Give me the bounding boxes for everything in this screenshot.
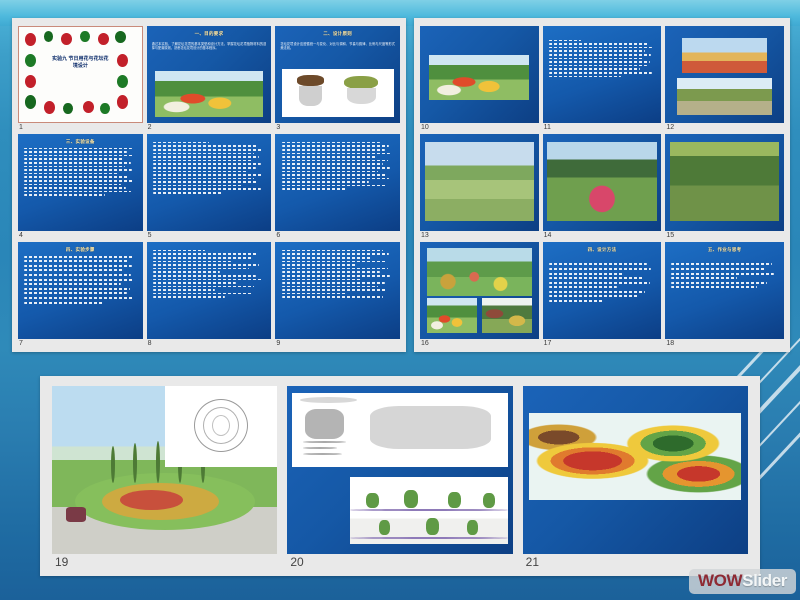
slide-7-title: 四、实验步骤	[18, 247, 143, 253]
slide-number: 14	[543, 231, 662, 240]
wowslider-watermark: WOWSlider	[689, 569, 796, 594]
watermark-slider-text: Slider	[742, 571, 787, 590]
slide-13-canvas[interactable]	[420, 134, 539, 231]
slide-18-text-block	[671, 263, 778, 333]
slide-number: 3	[275, 123, 400, 132]
slide-thumbnail-6[interactable]: 6	[275, 134, 400, 240]
slide-20-sketch-plan	[292, 393, 508, 467]
slide-18-canvas[interactable]: 五、作业与思考	[665, 242, 784, 339]
slide-3-photo	[282, 69, 394, 118]
slide-thumbnail-1[interactable]: 实验九 节日用花与花坛花境设计 1	[18, 26, 143, 132]
slide-number: 15	[665, 231, 784, 240]
thumbnail-grid-right: 10 11 12	[414, 18, 790, 352]
slide-thumbnail-12[interactable]: 12	[665, 26, 784, 132]
slide-6-canvas[interactable]	[275, 134, 400, 231]
slide-6-text-block	[282, 142, 394, 225]
slide-gallery-stage: 实验九 节日用花与花坛花境设计 1 一、目的要求 通过本实验，了解花坛花境的基本…	[0, 0, 800, 600]
slide-number: 18	[665, 339, 784, 348]
slide-thumbnail-7[interactable]: 四、实验步骤 7	[18, 242, 143, 348]
slide-number: 4	[18, 231, 143, 240]
slide-thumbnail-8[interactable]: 8	[147, 242, 272, 348]
thumbnail-panel-bottom: 19	[40, 376, 760, 576]
slide-thumbnail-19[interactable]: 19	[52, 386, 277, 570]
thumbnail-grid-left: 实验九 节日用花与花坛花境设计 1 一、目的要求 通过本实验，了解花坛花境的基本…	[12, 18, 406, 352]
slide-number: 2	[147, 123, 272, 132]
slide-17-title: 四、设计方法	[543, 247, 662, 253]
slide-12-photo-top	[682, 38, 767, 73]
slide-thumbnail-14[interactable]: 14	[543, 134, 662, 240]
slide-thumbnail-13[interactable]: 13	[420, 134, 539, 240]
slide-20-canvas[interactable]	[287, 386, 512, 554]
slide-2-title: 一、目的要求	[147, 31, 272, 37]
slide-8-canvas[interactable]	[147, 242, 272, 339]
slide-14-photo	[547, 142, 656, 222]
thumbnail-grid-bottom: 19	[40, 376, 760, 576]
slide-number: 10	[420, 123, 539, 132]
slide-2-photo	[155, 71, 262, 118]
watermark-wow-text: WOW	[698, 571, 742, 590]
thumbnail-panel-left: 实验九 节日用花与花坛花境设计 1 一、目的要求 通过本实验，了解花坛花境的基本…	[12, 18, 406, 352]
slide-thumbnail-9[interactable]: 9	[275, 242, 400, 348]
slide-2-canvas[interactable]: 一、目的要求 通过本实验，了解花坛花境的基本类型和设计方法，掌握花坛花境植物材料…	[147, 26, 272, 123]
slide-thumbnail-4[interactable]: 三、实验设备 4	[18, 134, 143, 240]
slide-16-photo-bottom-left	[427, 298, 477, 333]
slide-21-canvas[interactable]	[523, 386, 748, 554]
slide-number: 21	[523, 554, 748, 570]
slide-9-canvas[interactable]	[275, 242, 400, 339]
slide-thumbnail-21[interactable]: 21	[523, 386, 748, 570]
slide-number: 13	[420, 231, 539, 240]
thumbnail-panel-right: 10 11 12	[414, 18, 790, 352]
slide-3-body: 花坛花境设计应遵循统一与变化、对比与调和、节奏与韵律、比例与尺度等形式美法则。	[280, 42, 395, 54]
slide-19-canvas[interactable]	[52, 386, 277, 554]
slide-20-section-drawing	[350, 477, 508, 544]
slide-thumbnail-18[interactable]: 五、作业与思考 18	[665, 242, 784, 348]
slide-4-text-block	[24, 148, 136, 226]
slide-12-photo-bottom	[677, 78, 772, 115]
slide-17-canvas[interactable]: 四、设计方法	[543, 242, 662, 339]
slide-thumbnail-11[interactable]: 11	[543, 26, 662, 132]
slide-1-canvas[interactable]: 实验九 节日用花与花坛花境设计	[18, 26, 143, 123]
slide-7-text-block	[24, 256, 136, 334]
slide-14-canvas[interactable]	[543, 134, 662, 231]
slide-thumbnail-17[interactable]: 四、设计方法 17	[543, 242, 662, 348]
slide-1-title: 实验九 节日用花与花坛花境设计	[51, 56, 110, 70]
slide-12-canvas[interactable]	[665, 26, 784, 123]
slide-9-text-block	[282, 250, 394, 333]
slide-16-photo-top	[427, 248, 531, 297]
slide-5-canvas[interactable]	[147, 134, 272, 231]
slide-10-photo	[429, 55, 529, 100]
slide-number: 6	[275, 231, 400, 240]
slide-8-text-block	[153, 250, 265, 333]
slide-number: 16	[420, 339, 539, 348]
slide-number: 9	[275, 339, 400, 348]
slide-3-title: 二、设计原则	[275, 31, 400, 37]
slide-15-photo	[670, 142, 779, 222]
slide-3-canvas[interactable]: 二、设计原则 花坛花境设计应遵循统一与变化、对比与调和、节奏与韵律、比例与尺度等…	[275, 26, 400, 123]
slide-13-photo	[425, 142, 534, 222]
slide-thumbnail-2[interactable]: 一、目的要求 通过本实验，了解花坛花境的基本类型和设计方法，掌握花坛花境植物材料…	[147, 26, 272, 132]
slide-number: 7	[18, 339, 143, 348]
slide-thumbnail-15[interactable]: 15	[665, 134, 784, 240]
slide-19-plan-inset	[165, 386, 278, 467]
wreath-frame: 实验九 节日用花与花坛花境设计	[18, 26, 143, 123]
slide-number: 1	[18, 123, 143, 132]
slide-number: 8	[147, 339, 272, 348]
slide-number: 17	[543, 339, 662, 348]
slide-thumbnail-16[interactable]: 16	[420, 242, 539, 348]
slide-number: 19	[52, 554, 277, 570]
slide-4-title: 三、实验设备	[18, 139, 143, 145]
slide-15-canvas[interactable]	[665, 134, 784, 231]
slide-16-photo-bottom-right	[482, 298, 532, 333]
slide-thumbnail-20[interactable]: 20	[287, 386, 512, 570]
slide-thumbnail-3[interactable]: 二、设计原则 花坛花境设计应遵循统一与变化、对比与调和、节奏与韵律、比例与尺度等…	[275, 26, 400, 132]
slide-11-text-block	[549, 40, 656, 118]
slide-2-body: 通过本实验，了解花坛花境的基本类型和设计方法，掌握花坛花境植物材料的选择与配置原…	[152, 42, 267, 56]
slide-number: 20	[287, 554, 512, 570]
slide-18-title: 五、作业与思考	[665, 247, 784, 253]
slide-21-contour-plan	[529, 413, 741, 500]
slide-16-canvas[interactable]	[420, 242, 539, 339]
slide-5-text-block	[153, 142, 265, 225]
slide-number: 12	[665, 123, 784, 132]
slide-number: 11	[543, 123, 662, 132]
slide-thumbnail-10[interactable]: 10	[420, 26, 539, 132]
slide-7-canvas[interactable]: 四、实验步骤	[18, 242, 143, 339]
slide-4-canvas[interactable]: 三、实验设备	[18, 134, 143, 231]
slide-11-canvas[interactable]	[543, 26, 662, 123]
slide-thumbnail-5[interactable]: 5	[147, 134, 272, 240]
slide-10-canvas[interactable]	[420, 26, 539, 123]
slide-number: 5	[147, 231, 272, 240]
slide-17-text-block	[549, 263, 656, 333]
